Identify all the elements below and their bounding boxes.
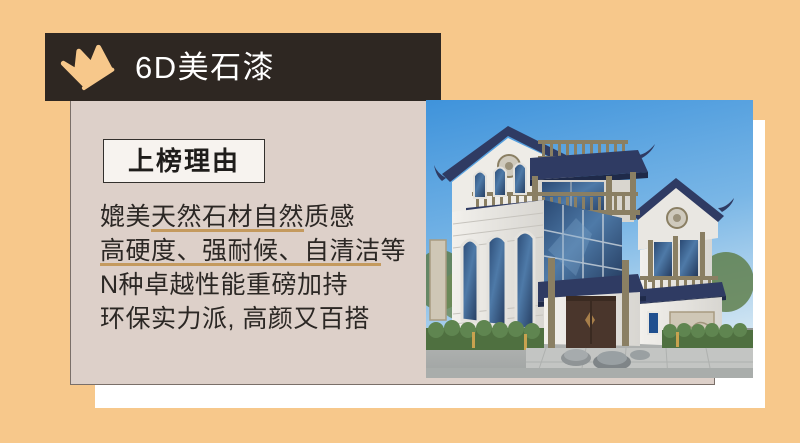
header-bar: 6D美石漆 [45,33,441,101]
reason-badge-label: 上榜理由 [128,148,240,174]
copy-segment-plain: 媲美 [100,203,151,231]
copy-line: N种卓越性能重磅加持 [100,268,430,302]
villa-photo-scene [426,100,753,378]
copy-segment-plain: N种卓越性能重磅加持 [100,271,348,299]
crown-icon [59,41,121,93]
copy-line: 高硬度、强耐候、自清洁等 [100,234,430,268]
copy-line: 环保实力派, 高颜又百搭 [100,302,430,336]
copy-segment-highlight: 天然石材自然 [151,203,304,232]
header-title: 6D美石漆 [135,52,275,83]
reason-badge: 上榜理由 [103,139,265,183]
copy-segment-highlight: 高硬度、强耐候、自清洁 [100,237,381,266]
body-copy: 媲美天然石材自然质感 高硬度、强耐候、自清洁等 N种卓越性能重磅加持 环保实力派… [100,200,430,336]
poster-canvas: 6D美石漆 上榜理由 媲美天然石材自然质感 高硬度、强耐候、自清洁等 N种卓越性… [0,0,800,443]
copy-segment-plain: 环保实力派, 高颜又百搭 [100,305,370,333]
copy-line: 媲美天然石材自然质感 [100,200,430,234]
copy-segment-plain: 等 [381,237,407,265]
copy-segment-plain: 质感 [304,203,355,231]
villa-photo: 中式现代别墅效果图 [426,100,753,378]
